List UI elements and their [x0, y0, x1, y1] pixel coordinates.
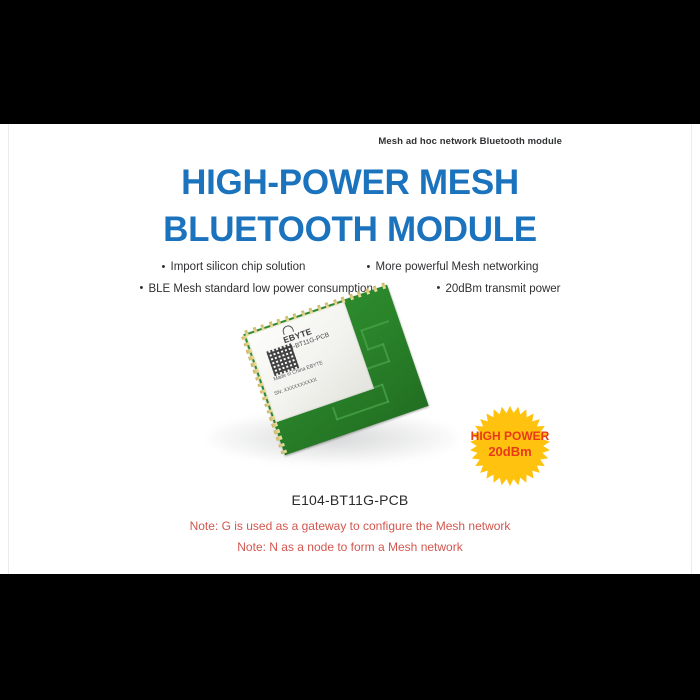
- solder-pad: [252, 327, 257, 334]
- product-name: E104-BT11G-PCB: [0, 492, 700, 508]
- solder-pad: [273, 429, 280, 434]
- solder-pad: [267, 409, 274, 414]
- note-line-1: Note: G is used as a gateway to configur…: [0, 519, 700, 533]
- antenna-trace: [360, 320, 389, 332]
- solder-pad: [276, 436, 283, 441]
- solder-pad: [317, 305, 322, 312]
- solder-pad: [284, 316, 289, 323]
- solder-pad: [309, 307, 314, 314]
- solder-pad: [365, 288, 370, 295]
- product-photo: EBYTE E104-BT11G-PCB Made in China EBYTE…: [190, 304, 480, 484]
- solder-pad: [257, 382, 264, 387]
- solder-pad: [260, 389, 267, 394]
- solder-pad: [269, 416, 276, 421]
- solder-pad: [262, 396, 269, 401]
- eyebrow-text: Mesh ad hoc network Bluetooth module: [378, 136, 562, 147]
- page-title: HIGH-POWER MESH BLUETOOTH MODULE: [0, 160, 700, 253]
- solder-pad: [271, 422, 278, 427]
- solder-pad: [246, 349, 253, 354]
- feature-item-3: BLE Mesh standard low power consumption: [139, 284, 436, 296]
- page-title-line-2: BLUETOOTH MODULE: [0, 207, 700, 254]
- letterbox-top-band: [0, 0, 700, 124]
- solder-pad: [341, 296, 346, 303]
- solder-pad: [264, 402, 271, 407]
- solder-pad: [349, 294, 354, 301]
- solder-pad: [260, 324, 265, 331]
- feature-item-1: Import silicon chip solution: [162, 262, 367, 274]
- solder-pad: [255, 375, 262, 380]
- solder-pad: [243, 342, 250, 347]
- solder-pad: [248, 355, 255, 360]
- feature-item-4: 20dBm transmit power: [436, 284, 560, 296]
- note-line-2: Note: N as a node to form a Mesh network: [0, 540, 700, 554]
- solder-pad: [253, 369, 260, 374]
- content-panel: Mesh ad hoc network Bluetooth module HIG…: [0, 124, 700, 574]
- letterbox-bottom-band: [0, 574, 700, 700]
- badge-line-2: 20dBm: [457, 444, 563, 460]
- antenna-trace: [336, 400, 390, 420]
- solder-pad: [333, 299, 338, 306]
- solder-pad: [244, 330, 249, 337]
- feature-row-1: Import silicon chip solution More powerf…: [0, 262, 700, 274]
- badge-line-1: HIGH POWER: [457, 429, 563, 444]
- solder-pad: [373, 285, 378, 292]
- solder-pad: [278, 442, 285, 447]
- feature-item-2: More powerful Mesh networking: [367, 262, 539, 274]
- solder-pad: [300, 310, 305, 317]
- badge-text: HIGH POWER 20dBm: [457, 429, 563, 460]
- antenna-trace: [332, 407, 338, 421]
- solder-pad: [276, 319, 281, 326]
- solder-pad: [357, 291, 362, 298]
- solder-pad: [292, 313, 297, 320]
- solder-pad: [268, 321, 273, 328]
- page-title-line-1: HIGH-POWER MESH: [0, 160, 700, 207]
- solder-pad: [250, 362, 257, 367]
- high-power-badge: HIGH POWER 20dBm: [469, 405, 551, 487]
- product-banner: Mesh ad hoc network Bluetooth module HIG…: [0, 0, 700, 700]
- solder-pad: [325, 302, 330, 309]
